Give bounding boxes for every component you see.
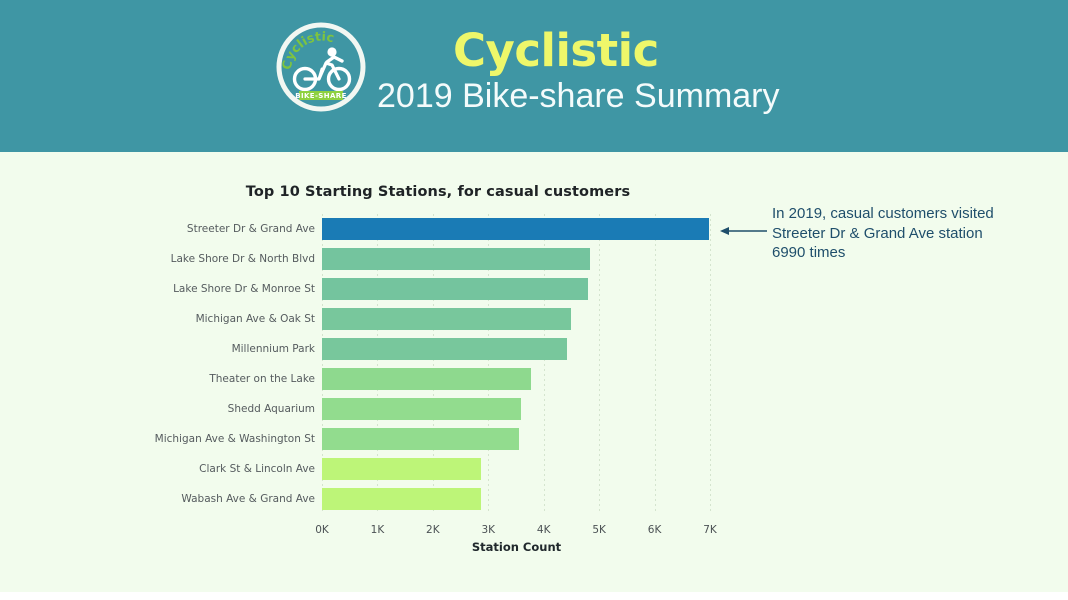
annotation-line-3: 6990 times <box>772 243 1062 263</box>
bar-row[interactable]: Streeter Dr & Grand Ave <box>322 214 711 244</box>
bar[interactable] <box>322 278 588 300</box>
bar[interactable] <box>322 368 531 390</box>
chart-title: Top 10 Starting Stations, for casual cus… <box>0 184 876 200</box>
bar-row[interactable]: Millennium Park <box>322 334 711 364</box>
bar-category-label: Michigan Ave & Washington St <box>155 429 315 449</box>
bar[interactable] <box>322 398 521 420</box>
bar-category-label: Theater on the Lake <box>209 369 315 389</box>
annotation-line-2: Streeter Dr & Grand Ave station <box>772 224 1062 244</box>
x-axis-label: Station Count <box>322 540 711 554</box>
bar-row[interactable]: Shedd Aquarium <box>322 394 711 424</box>
bar-row[interactable]: Michigan Ave & Washington St <box>322 424 711 454</box>
header-title-block: Cyclistic 2019 Bike-share Summary <box>377 28 1017 116</box>
x-tick-label: 5K <box>592 524 606 536</box>
cyclistic-bike-share-logo-icon: Cyclistic BIKE-SHARE <box>275 21 367 113</box>
bar-category-label: Millennium Park <box>232 339 315 359</box>
bar-category-label: Lake Shore Dr & North Blvd <box>171 249 315 269</box>
x-tick-label: 2K <box>426 524 440 536</box>
bar-category-label: Streeter Dr & Grand Ave <box>187 219 315 239</box>
annotation-line-1: In 2019, casual customers visited <box>772 204 1062 224</box>
x-tick-label: 6K <box>648 524 662 536</box>
x-tick-label: 0K <box>315 524 329 536</box>
bar[interactable] <box>322 488 481 510</box>
svg-text:BIKE-SHARE: BIKE-SHARE <box>295 92 347 100</box>
bar-row[interactable]: Michigan Ave & Oak St <box>322 304 711 334</box>
bar-row[interactable]: Lake Shore Dr & Monroe St <box>322 274 711 304</box>
bar-row[interactable]: Theater on the Lake <box>322 364 711 394</box>
x-tick-label: 3K <box>481 524 495 536</box>
bar-row[interactable]: Lake Shore Dr & North Blvd <box>322 244 711 274</box>
bar-row[interactable]: Clark St & Lincoln Ave <box>322 454 711 484</box>
bar-category-label: Wabash Ave & Grand Ave <box>181 489 315 509</box>
bar[interactable] <box>322 428 519 450</box>
brand-name: Cyclistic <box>377 28 1017 73</box>
bar-chart-plot-area: Streeter Dr & Grand AveLake Shore Dr & N… <box>322 214 711 514</box>
page-subtitle: 2019 Bike-share Summary <box>377 77 1017 116</box>
bar[interactable] <box>322 338 567 360</box>
dashboard-page: Cyclistic BIKE-SHARE Cyclistic 2019 Bike… <box>0 0 1068 600</box>
bar[interactable] <box>322 218 709 240</box>
bar-category-label: Clark St & Lincoln Ave <box>199 459 315 479</box>
page-header: Cyclistic BIKE-SHARE Cyclistic 2019 Bike… <box>0 0 1068 152</box>
bar[interactable] <box>322 308 571 330</box>
chart-panel: Top 10 Starting Stations, for casual cus… <box>0 152 1068 592</box>
x-tick-label: 4K <box>537 524 551 536</box>
annotation-arrow-icon <box>720 224 768 238</box>
x-tick-label: 7K <box>703 524 717 536</box>
bar-category-label: Shedd Aquarium <box>228 399 315 419</box>
bar[interactable] <box>322 458 481 480</box>
bar-category-label: Lake Shore Dr & Monroe St <box>173 279 315 299</box>
bar-row[interactable]: Wabash Ave & Grand Ave <box>322 484 711 514</box>
bar[interactable] <box>322 248 590 270</box>
footer-strip <box>0 592 1068 600</box>
bar-category-label: Michigan Ave & Oak St <box>196 309 315 329</box>
chart-annotation: In 2019, casual customers visited Street… <box>772 204 1062 263</box>
x-tick-label: 1K <box>371 524 385 536</box>
